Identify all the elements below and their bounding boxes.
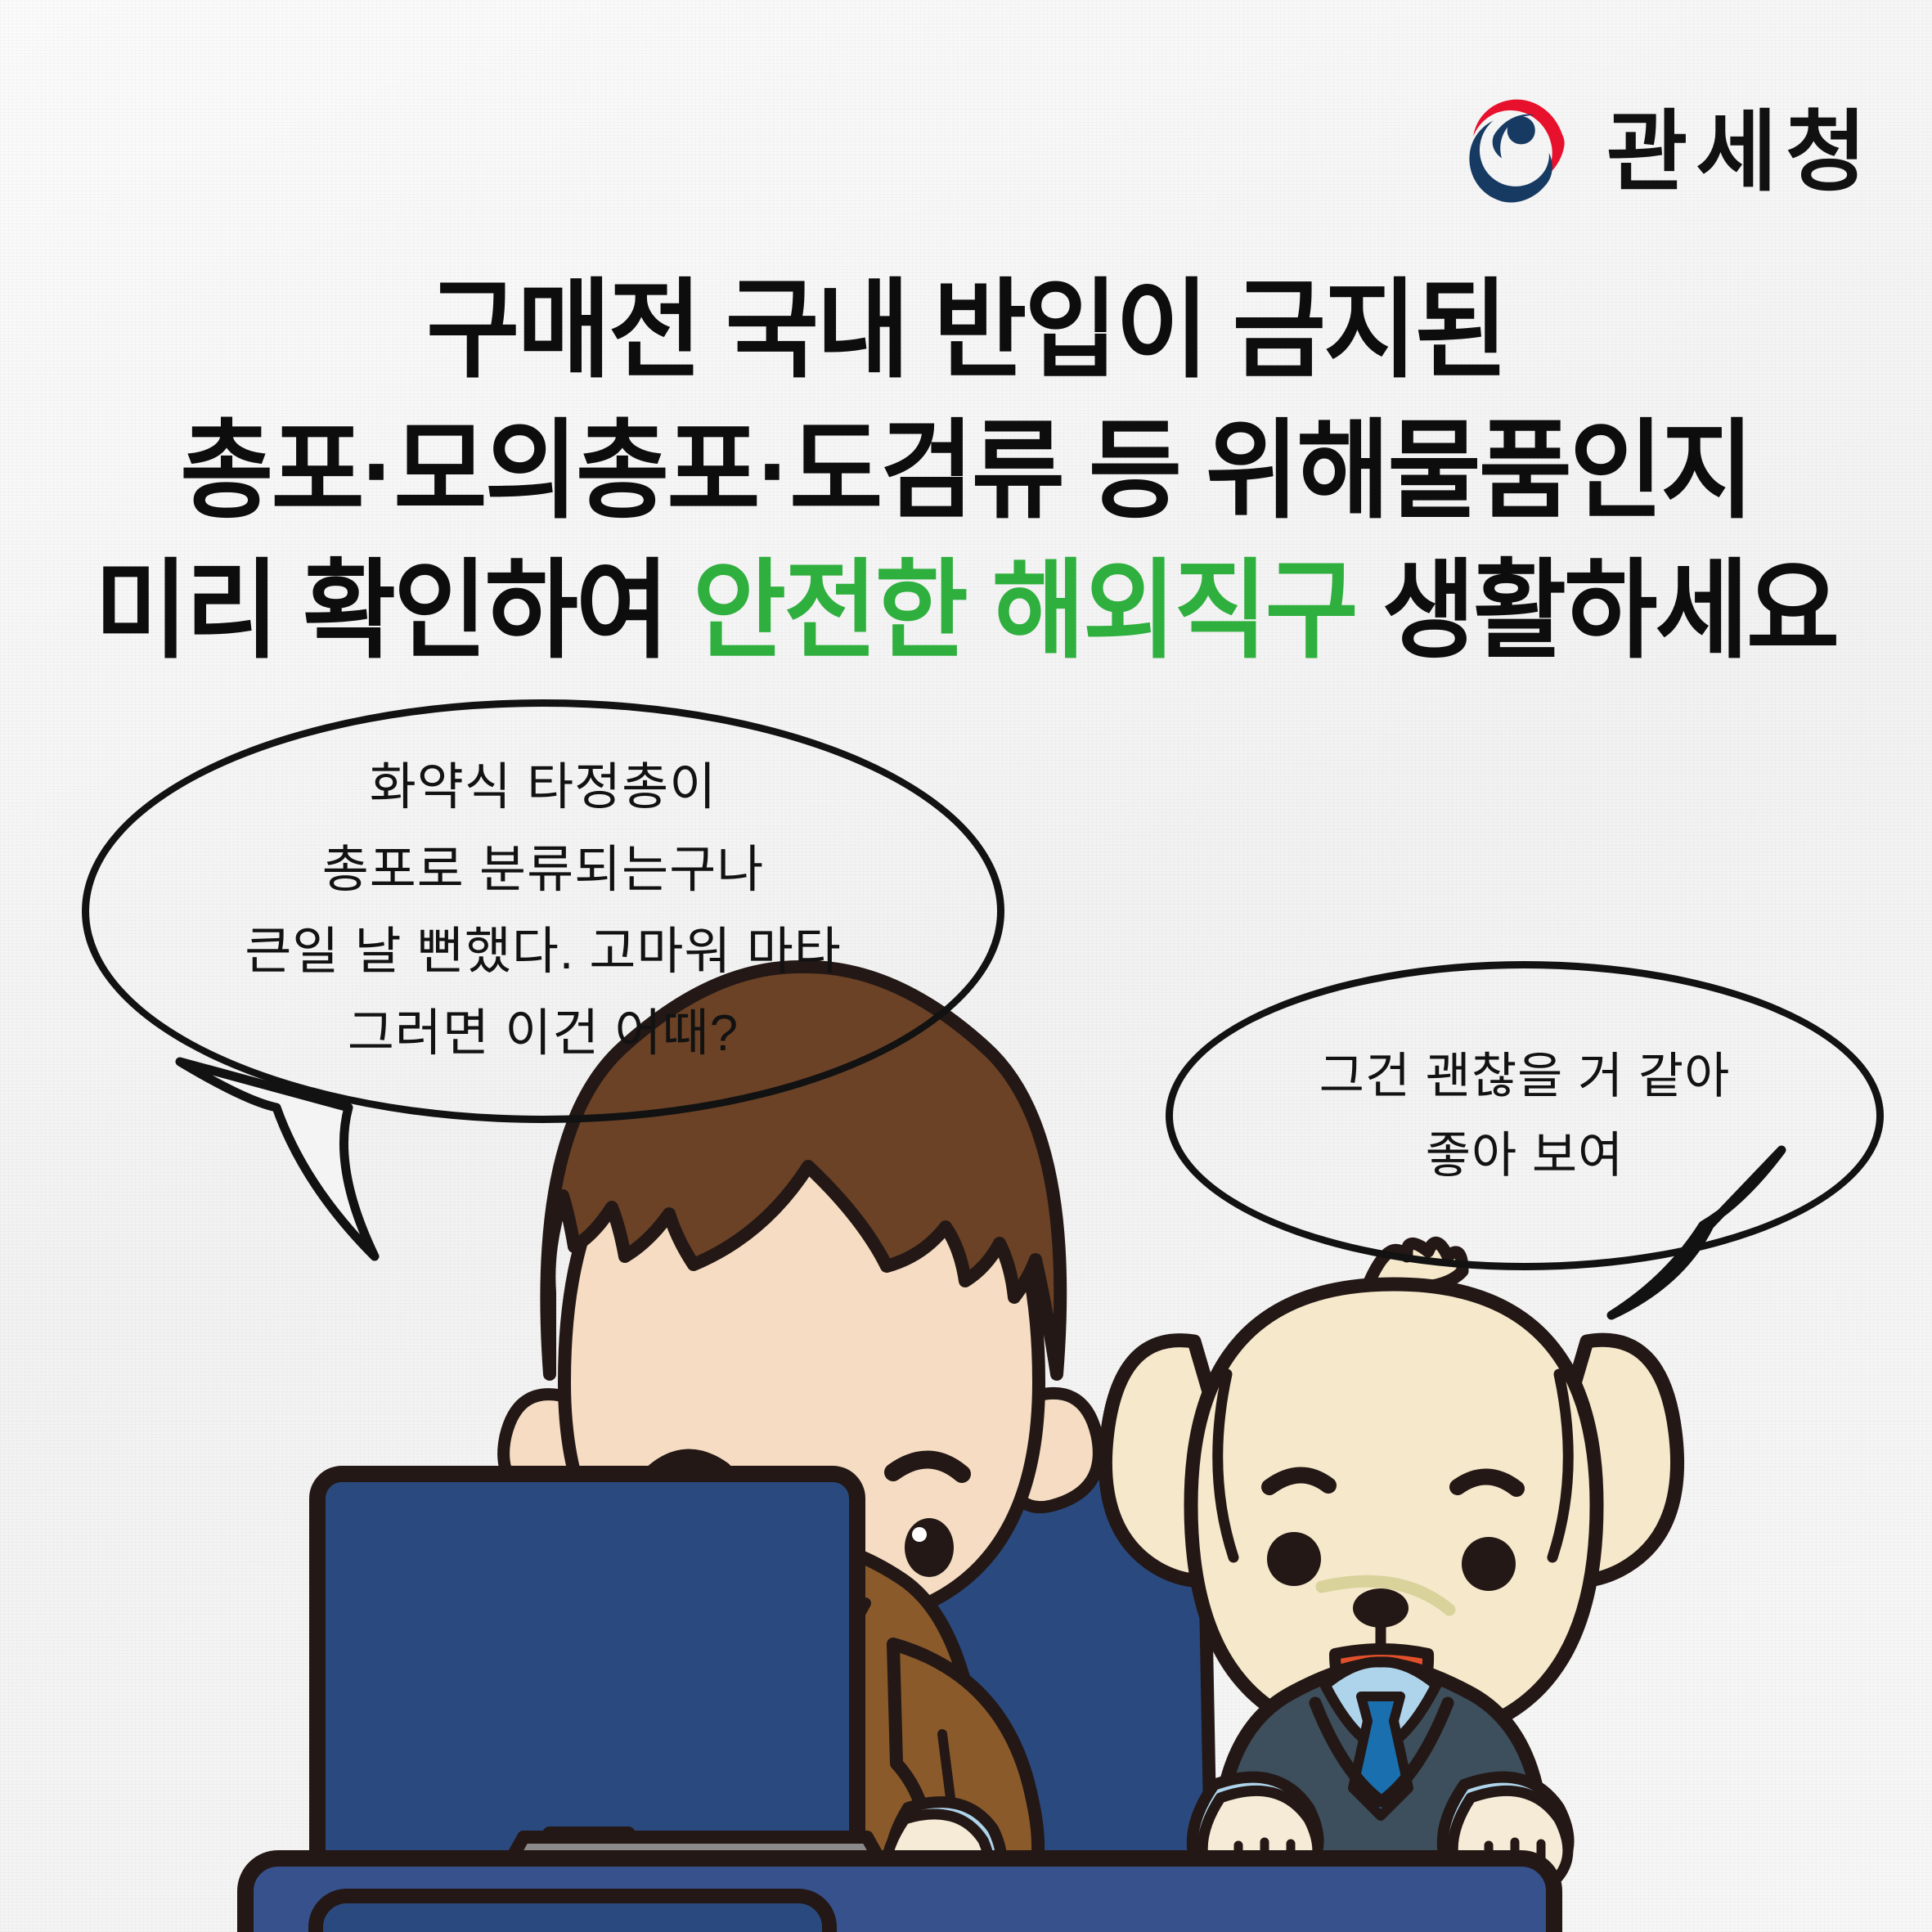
speech-bubble-boy-text: 화약식 타정총이 총포로 분류되는구나 큰일 날 뻔했다. 고마워 마타 그러면… [245,747,842,1076]
speech-bubble-dog-tail [1579,1145,1906,1391]
desk [245,1858,1554,1932]
infographic-card: 관세청 구매전 국내 반입이 금지된 총포·모의총포·도검류 등 위해물품인지 … [0,0,1932,1932]
speech-bubble-boy-tail [172,1047,548,1317]
